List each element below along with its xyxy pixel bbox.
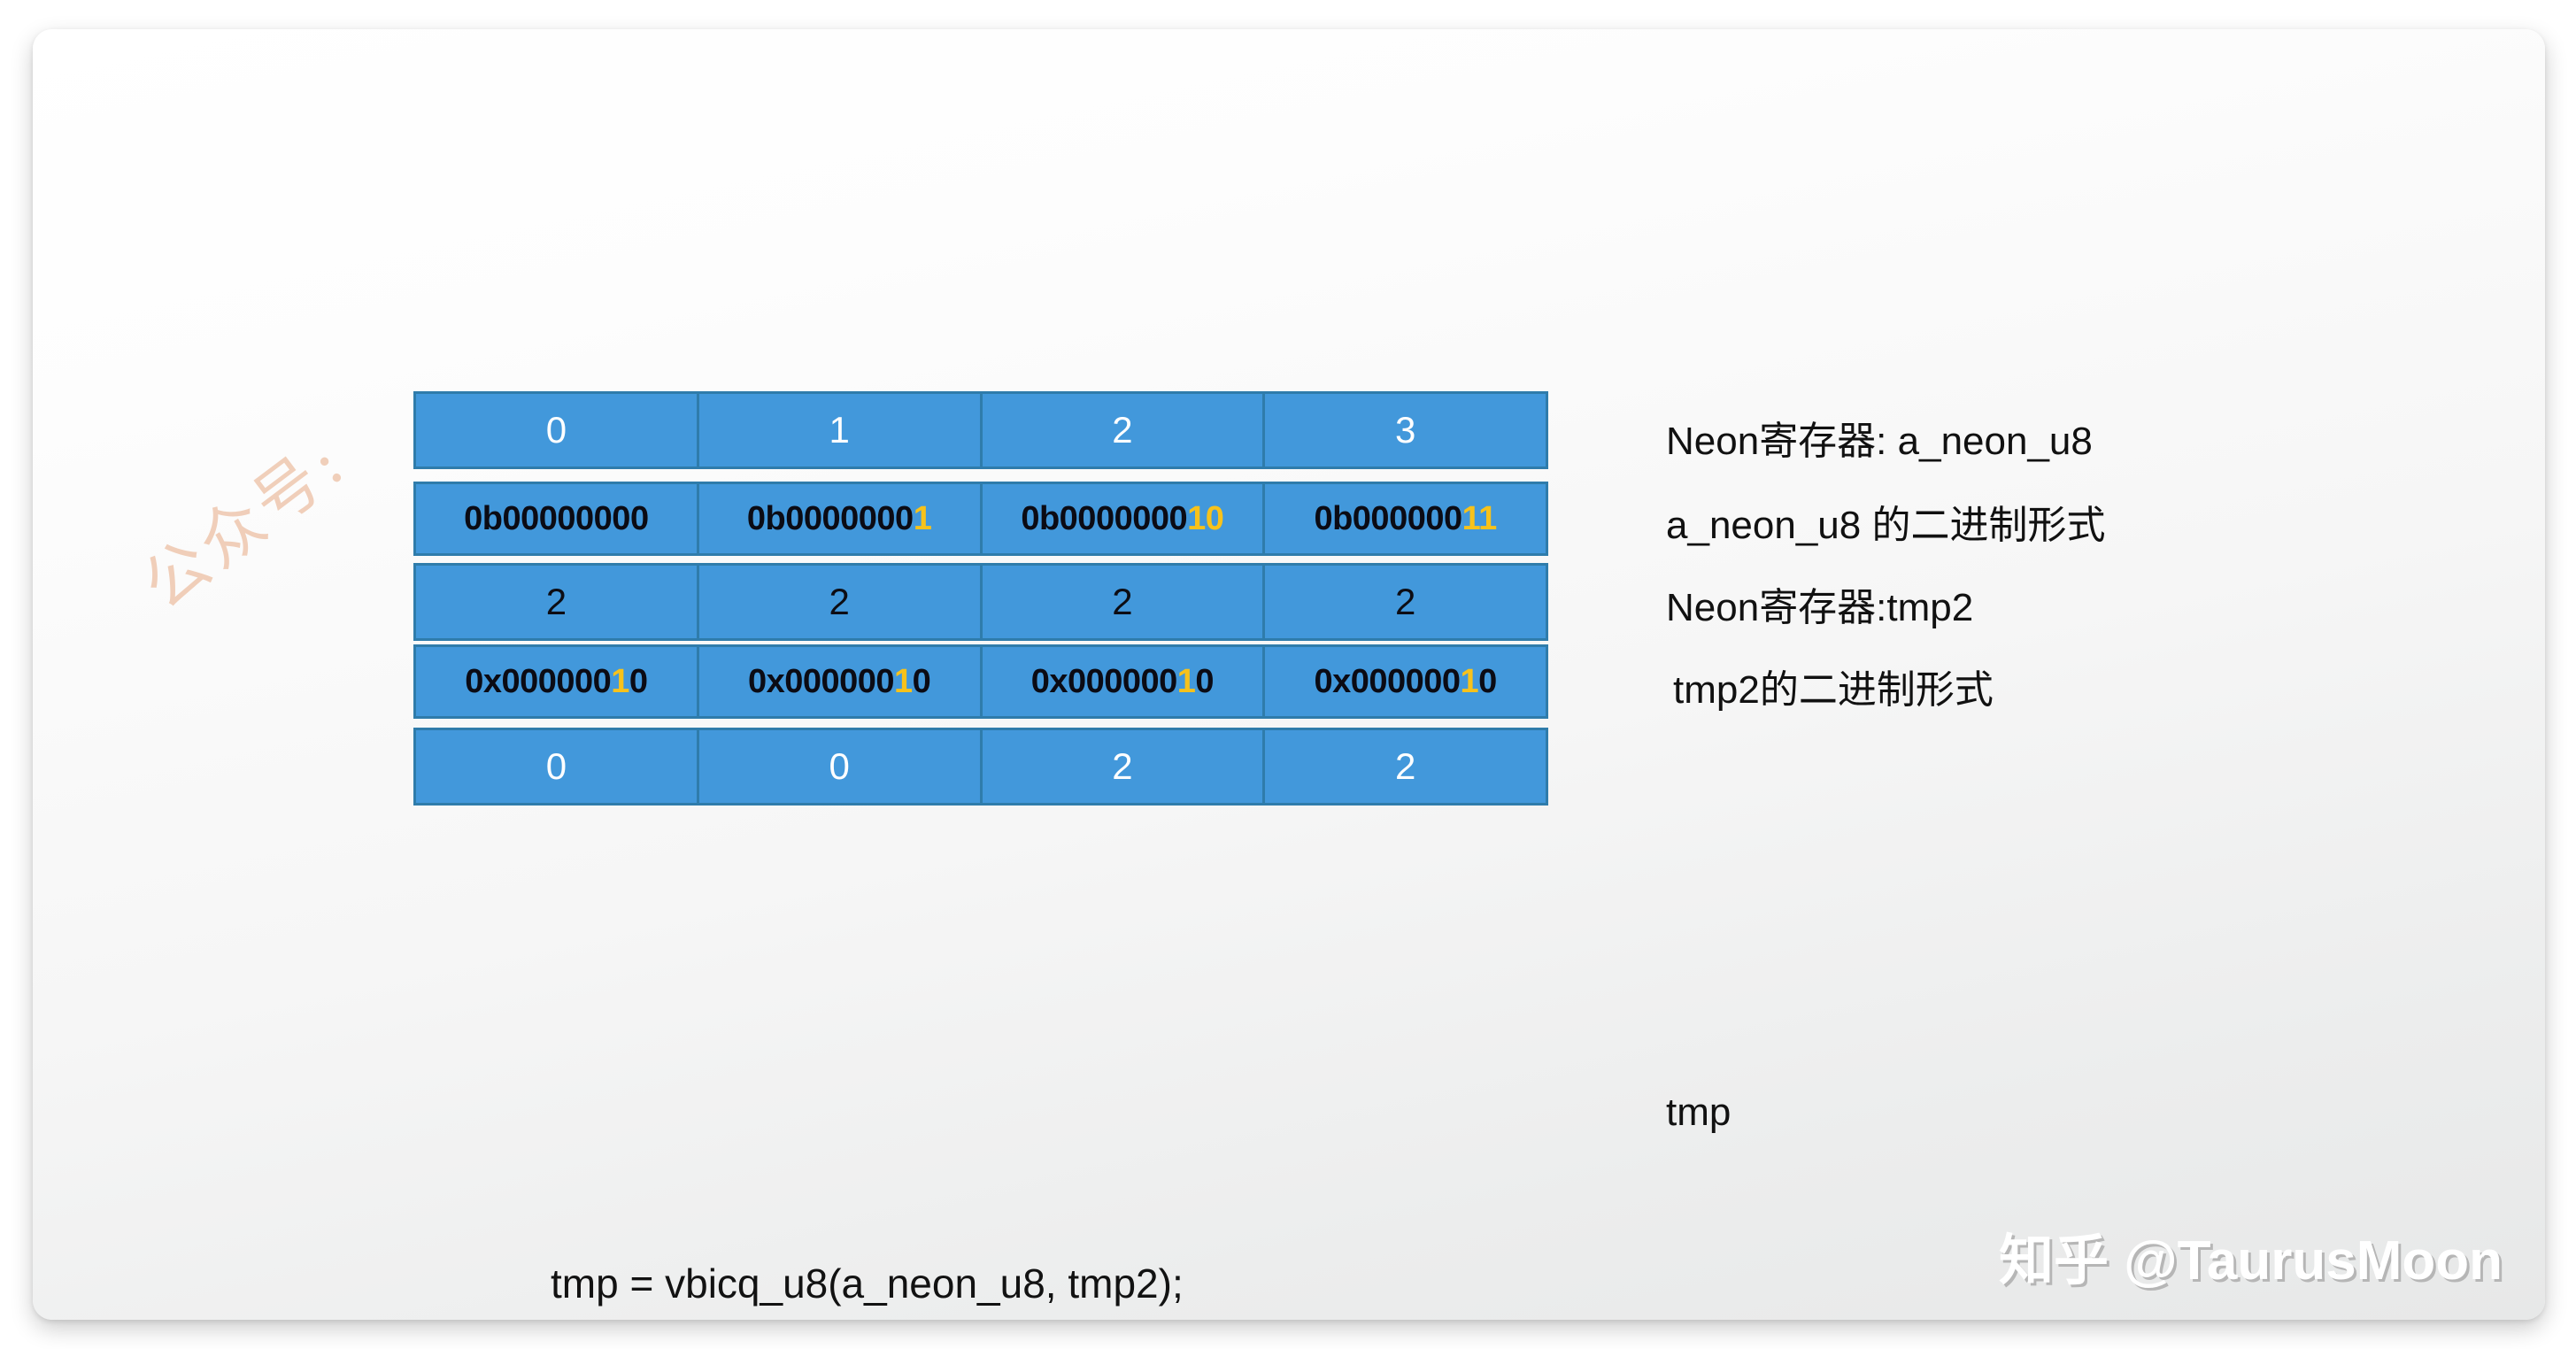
bits-highlight: 1 xyxy=(1177,663,1196,701)
bits-base: 0x000000 xyxy=(748,663,894,701)
row-label-tmp: tmp xyxy=(1666,1091,1731,1135)
register-cell: 0 xyxy=(699,730,983,803)
bits-highlight: 10 xyxy=(1187,500,1223,538)
bits-highlight: 1 xyxy=(914,500,932,538)
register-row-tmp: 0 0 2 2 xyxy=(413,728,1548,806)
register-cell: 2 xyxy=(1265,730,1546,803)
bits-suffix: 0 xyxy=(1195,663,1214,701)
bits-base: 0b0000000 xyxy=(1021,500,1187,538)
bits-base: 0b000000 xyxy=(1314,500,1462,538)
register-cell: 3 xyxy=(1265,394,1546,466)
register-cell: 2 xyxy=(699,566,983,638)
register-cell: 2 xyxy=(983,394,1266,466)
register-cell: 0x00000010 xyxy=(1265,647,1546,716)
bits-suffix: 0 xyxy=(913,663,931,701)
register-cell: 0x00000010 xyxy=(983,647,1266,716)
bits-base: 0x000000 xyxy=(1314,663,1460,701)
register-cell: 0b00000001 xyxy=(699,484,983,553)
slide-card: 公众号: 0 1 2 3 Neon寄存器: a_neon_u8 0b000000… xyxy=(33,29,2545,1320)
register-cell: 2 xyxy=(983,730,1266,803)
row-label-a-neon-u8-binary: a_neon_u8 的二进制形式 xyxy=(1666,493,2105,550)
register-cell: 2 xyxy=(1265,566,1546,638)
register-cell: 0b000000010 xyxy=(983,484,1266,553)
bits-highlight: 11 xyxy=(1462,500,1497,538)
bits-suffix: 0 xyxy=(1478,663,1497,701)
bits-base: 0x000000 xyxy=(1031,663,1177,701)
register-cell: 0b00000011 xyxy=(1265,484,1546,553)
register-cell: 0 xyxy=(416,394,699,466)
register-row-a-neon-u8-binary: 0b00000000 0b00000001 0b000000010 0b0000… xyxy=(413,482,1548,556)
row-label-a-neon-u8: Neon寄存器: a_neon_u8 xyxy=(1666,409,2093,466)
bits-highlight: 1 xyxy=(611,663,629,701)
zhihu-watermark: 知乎 @TaurusMoon xyxy=(1999,1215,2503,1295)
bits-base: 0b0000000 xyxy=(747,500,914,538)
register-row-a-neon-u8: 0 1 2 3 xyxy=(413,391,1548,469)
register-cell: 0x00000010 xyxy=(699,647,983,716)
register-cell: 2 xyxy=(416,566,699,638)
register-cell: 1 xyxy=(699,394,983,466)
row-label-tmp2-binary: tmp2的二进制形式 xyxy=(1673,658,1994,714)
register-cell: 0b00000000 xyxy=(416,484,699,553)
bits-base: 0b00000000 xyxy=(464,500,648,538)
register-cell: 2 xyxy=(983,566,1266,638)
register-cell: 0 xyxy=(416,730,699,803)
row-label-tmp2: Neon寄存器:tmp2 xyxy=(1666,575,1973,632)
code-caption: tmp = vbicq_u8(a_neon_u8, tmp2); xyxy=(551,1260,1184,1307)
bits-base: 0x000000 xyxy=(465,663,611,701)
bits-highlight: 1 xyxy=(894,663,913,701)
register-row-tmp2-binary: 0x00000010 0x00000010 0x00000010 0x00000… xyxy=(413,644,1548,719)
register-row-tmp2: 2 2 2 2 xyxy=(413,563,1548,641)
bits-highlight: 1 xyxy=(1461,663,1479,701)
bits-suffix: 0 xyxy=(629,663,648,701)
register-cell: 0x00000010 xyxy=(416,647,699,716)
neon-register-diagram: 0 1 2 3 Neon寄存器: a_neon_u8 0b00000000 0b… xyxy=(33,29,2545,1320)
